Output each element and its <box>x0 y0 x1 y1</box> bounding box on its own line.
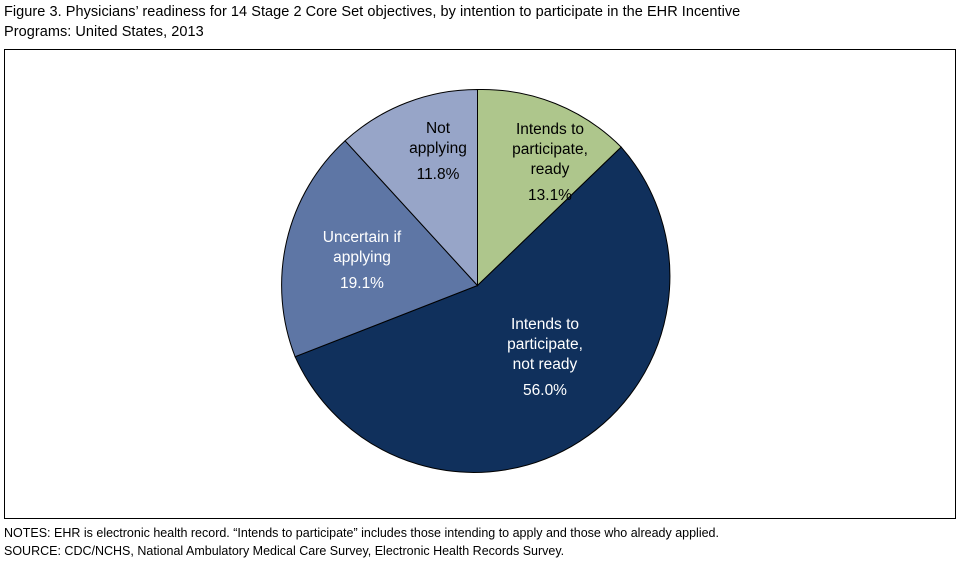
footnote-source: SOURCE: CDC/NCHS, National Ambulatory Me… <box>4 543 954 561</box>
figure-page: Figure 3. Physicians’ readiness for 14 S… <box>0 0 960 564</box>
figure-footnotes: NOTES: EHR is electronic health record. … <box>4 525 954 560</box>
chart-plot-frame: Intends to participate, ready 13.1% Inte… <box>4 49 956 519</box>
pie-chart: Intends to participate, ready 13.1% Inte… <box>5 50 957 520</box>
page-title: Figure 3. Physicians’ readiness for 14 S… <box>4 2 952 42</box>
title-line-2: Programs: United States, 2013 <box>4 22 952 42</box>
pie-chart-svg <box>5 50 957 520</box>
footnote-notes: NOTES: EHR is electronic health record. … <box>4 525 954 543</box>
title-line-1: Figure 3. Physicians’ readiness for 14 S… <box>4 2 952 22</box>
